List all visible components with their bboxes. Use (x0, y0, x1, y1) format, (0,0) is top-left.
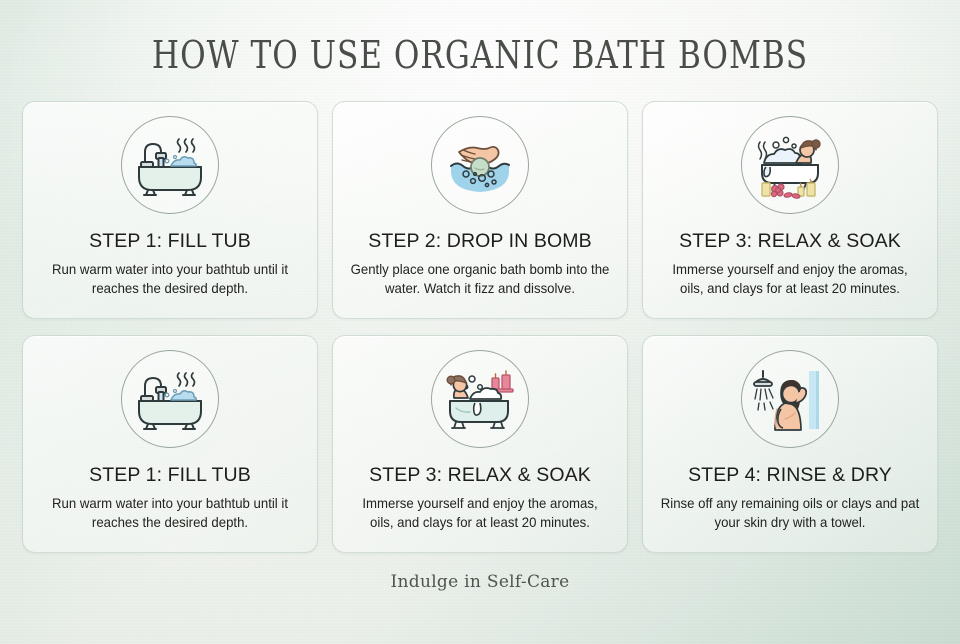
woman-soaking-candles-icon (741, 116, 839, 214)
step-title: STEP 1: FILL TUB (89, 231, 251, 252)
woman-soaking-shelf-candles-icon (431, 350, 529, 448)
step-description: Run warm water into your bathtub until i… (39, 495, 301, 531)
step-card[interactable]: STEP 3: RELAX & SOAK Immerse yourself an… (642, 101, 938, 319)
step-title: STEP 2: DROP IN BOMB (368, 231, 591, 252)
step-description: Run warm water into your bathtub until i… (39, 261, 301, 297)
step-title: STEP 3: RELAX & SOAK (369, 465, 591, 486)
step-card[interactable]: STEP 4: RINSE & DRY Rinse off any remain… (642, 335, 938, 553)
infographic-poster: HOW TO USE ORGANIC BATH BOMBS (0, 0, 960, 644)
hand-dropping-bath-bomb-icon (431, 116, 529, 214)
woman-showering-icon (741, 350, 839, 448)
step-title: STEP 3: RELAX & SOAK (679, 231, 901, 252)
bathtub-faucet-icon (121, 116, 219, 214)
step-card[interactable]: STEP 1: FILL TUB Run warm water into you… (22, 101, 318, 319)
step-title: STEP 1: FILL TUB (89, 465, 251, 486)
bathtub-faucet-icon (121, 350, 219, 448)
step-card[interactable]: STEP 2: DROP IN BOMB Gently place one or… (332, 101, 628, 319)
page-title: HOW TO USE ORGANIC BATH BOMBS (86, 0, 873, 77)
step-description: Rinse off any remaining oils or clays an… (659, 495, 921, 531)
footer-tagline: Indulge in Self-Care (0, 572, 960, 592)
step-description: Gently place one organic bath bomb into … (349, 261, 611, 297)
step-card[interactable]: STEP 3: RELAX & SOAK Immerse yourself an… (332, 335, 628, 553)
step-description: Immerse yourself and enjoy the aromas, o… (349, 495, 611, 531)
step-description: Immerse yourself and enjoy the aromas, o… (659, 261, 921, 297)
steps-grid: STEP 1: FILL TUB Run warm water into you… (0, 101, 960, 553)
step-title: STEP 4: RINSE & DRY (688, 465, 892, 486)
step-card[interactable]: STEP 1: FILL TUB Run warm water into you… (22, 335, 318, 553)
